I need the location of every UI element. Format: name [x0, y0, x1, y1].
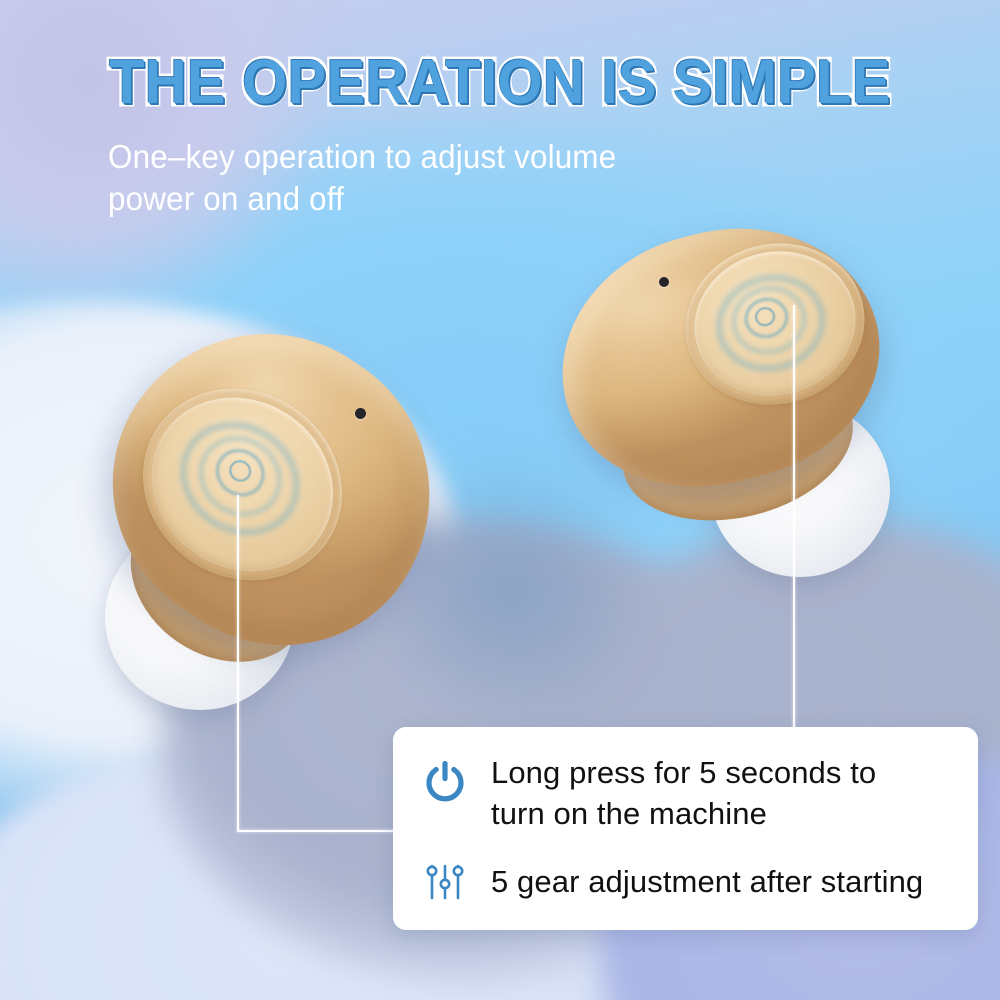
sliders-icon [421, 860, 469, 904]
power-icon [421, 753, 469, 803]
leader-line-right-earbud [793, 305, 795, 729]
page-title: THE OPERATION IS SIMPLE [35, 52, 965, 114]
feature-power-line-1: Long press for 5 seconds to [491, 755, 876, 790]
leader-line-left-earbud-vertical [237, 495, 239, 831]
microphone-hole [355, 408, 366, 419]
feature-text-gears: 5 gear adjustment after starting [491, 862, 923, 903]
microphone-hole [659, 277, 669, 287]
left-earbud [95, 330, 485, 750]
feature-callout-card: Long press for 5 seconds to turn on the … [393, 727, 978, 930]
feature-row-power: Long press for 5 seconds to turn on the … [421, 753, 978, 835]
right-earbud [560, 232, 920, 562]
feature-power-line-2: turn on the machine [491, 796, 767, 831]
feature-text-power: Long press for 5 seconds to turn on the … [491, 753, 876, 835]
feature-row-gears: 5 gear adjustment after starting [421, 860, 978, 904]
subtitle-line-2: power on and off [108, 178, 830, 220]
product-marketing-image: THE OPERATION IS SIMPLE THE OPERATION IS… [0, 0, 1000, 1000]
subtitle-line-1: One–key operation to adjust volume [108, 136, 830, 178]
leader-line-left-earbud-horizontal [237, 830, 395, 832]
page-subtitle: One–key operation to adjust volume power… [108, 136, 830, 220]
